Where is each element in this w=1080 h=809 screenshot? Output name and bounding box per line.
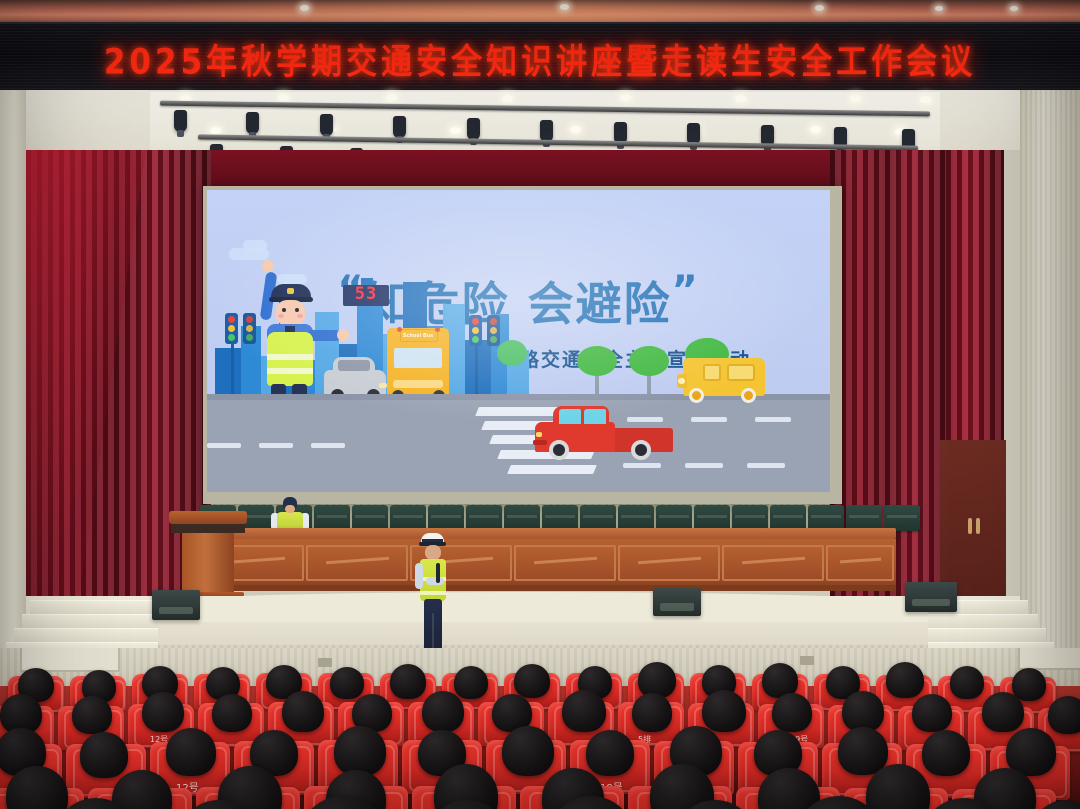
- yellow-light: [490, 327, 497, 334]
- pickup-cab: [535, 422, 615, 452]
- speaker-arm: [426, 577, 444, 585]
- projection-screen: “知危险 会避险” 道路交通安全主题宣传活动: [207, 190, 830, 492]
- traffic-light-right: [469, 315, 482, 346]
- ceiling-downlight: [620, 94, 631, 101]
- truss-rail-upper: [160, 101, 930, 117]
- officer-cheek: [297, 314, 303, 318]
- green-light: [228, 334, 235, 341]
- red-light: [490, 318, 497, 325]
- ceiling-glow: [0, 0, 1080, 24]
- cloud-shape: [243, 240, 267, 251]
- officer-eye: [295, 308, 299, 312]
- ceiling-downlight: [278, 94, 289, 101]
- stage-lamp: [320, 114, 333, 136]
- right-wall: [1020, 90, 1080, 650]
- ceiling-light: [560, 4, 569, 10]
- audience-head: [1012, 668, 1046, 701]
- close-quote: ”: [672, 268, 700, 314]
- ceiling-downlight: [502, 95, 513, 102]
- audience-area: 12号 19号 6号 5排 7排18号 12号: [0, 648, 1080, 809]
- table-panel: [826, 545, 894, 581]
- ceiling-downlight: [450, 127, 461, 134]
- tree-crown: [639, 346, 661, 364]
- stage-monitor-speaker: [152, 590, 200, 620]
- stage-monitor-speaker: [653, 588, 701, 616]
- officer-vest-stripe: [267, 368, 313, 374]
- building-silhouette: [215, 348, 241, 400]
- door-handle: [968, 518, 972, 534]
- pickup-headlight: [536, 432, 542, 437]
- ceiling-downlight: [570, 126, 581, 133]
- truss-rail-lower: [198, 134, 918, 150]
- audience-head: [562, 690, 606, 732]
- screen-headline: “知危险 会避险”: [337, 268, 700, 334]
- school-bus-light: [397, 327, 402, 332]
- officer-cheek: [278, 314, 284, 318]
- lectern-band: [171, 524, 245, 533]
- audience-head: [422, 691, 464, 732]
- yellow-van-window: [703, 364, 721, 381]
- audience-head: [950, 666, 984, 699]
- yellow-light: [472, 327, 479, 334]
- wall-notice-board: [1018, 648, 1080, 670]
- speaker-arm: [415, 563, 423, 589]
- pickup-wheel: [549, 440, 569, 460]
- table-panel: [306, 545, 408, 581]
- audience-head: [886, 662, 924, 698]
- led-banner: 2025年秋学期交通安全知识讲座暨走读生安全工作会议: [0, 22, 1080, 94]
- speaker-vest-stripe: [420, 591, 446, 595]
- lectern-top: [169, 511, 247, 524]
- audience-head: [502, 726, 554, 776]
- audience-head: [282, 691, 324, 732]
- grey-sedan-window: [338, 360, 370, 371]
- yellow-van-wheel: [689, 388, 704, 403]
- audience-head: [212, 694, 252, 732]
- wall-vent: [800, 656, 814, 665]
- countdown-timer: 53: [343, 285, 389, 306]
- officer-hand: [337, 329, 349, 341]
- seated-traffic-officer: [275, 497, 305, 531]
- yellow-light: [228, 325, 235, 332]
- audience-head: [72, 696, 112, 734]
- yellow-van-wheel: [741, 388, 756, 403]
- officer-cap-badge: [287, 288, 294, 294]
- table-panel: [722, 545, 824, 581]
- audience-head: [638, 662, 676, 698]
- school-bus-windshield: [394, 348, 442, 368]
- conference-table-front: [196, 539, 896, 585]
- ceiling-downlight: [386, 94, 397, 101]
- ceiling-light: [935, 6, 943, 11]
- traffic-light-pole: [231, 338, 234, 400]
- audience-head: [1048, 696, 1080, 734]
- officer-face: [276, 300, 305, 326]
- green-light: [490, 336, 497, 343]
- stage-lamp: [467, 118, 480, 140]
- seated-officer-face: [285, 505, 295, 513]
- ceiling-downlight: [735, 95, 746, 102]
- officer-hand: [262, 260, 274, 272]
- ceiling-downlight: [850, 95, 861, 102]
- stage-lamp: [393, 116, 406, 138]
- lane-marking: [691, 417, 727, 422]
- red-light: [228, 316, 235, 323]
- audience-head: [454, 666, 488, 699]
- pickup-wheel: [631, 440, 651, 460]
- grey-sedan-headlight: [379, 383, 387, 388]
- wall-vent: [318, 658, 332, 667]
- audience-head: [142, 692, 184, 732]
- conference-table-top: [196, 528, 896, 539]
- audience-head: [702, 690, 746, 732]
- school-bus-label: School Bus: [403, 333, 434, 339]
- traffic-light-pole-right: [475, 340, 478, 400]
- audience-head: [922, 730, 970, 776]
- ceiling-downlight: [210, 127, 221, 134]
- conference-table-base: [196, 585, 896, 591]
- audience-head: [330, 667, 364, 699]
- ceiling-light: [300, 5, 309, 11]
- tree-crown: [497, 340, 527, 366]
- pickup-window: [559, 409, 581, 424]
- building-silhouette: [465, 340, 491, 400]
- microphone[interactable]: [436, 563, 440, 583]
- yellow-van: [677, 354, 769, 410]
- yellow-van-headlight: [678, 378, 685, 384]
- lane-marking: [311, 443, 345, 448]
- traffic-light-right-2: [487, 315, 500, 346]
- led-banner-text: 2025年秋学期交通安全知识讲座暨走读生安全工作会议: [104, 33, 976, 83]
- officer-eye: [282, 308, 286, 312]
- speaker-leg-split: [432, 613, 434, 653]
- audience-head: [912, 694, 952, 732]
- red-light: [472, 318, 479, 325]
- lectern-body[interactable]: [182, 533, 234, 596]
- ceiling-light: [1010, 6, 1018, 11]
- ceiling-downlight: [920, 96, 931, 103]
- crosswalk-stripe: [507, 465, 597, 474]
- speaker-head: [425, 545, 441, 560]
- audience-head: [390, 664, 426, 699]
- tree-crown: [587, 346, 609, 364]
- audience-head: [632, 693, 672, 732]
- audience-head: [772, 693, 812, 732]
- audience-head: [982, 692, 1024, 732]
- door-handle: [976, 518, 980, 534]
- school-bus-light: [435, 327, 440, 332]
- left-wall: [0, 90, 26, 650]
- red-pickup-truck: [531, 404, 681, 466]
- audience-head: [586, 730, 634, 776]
- pickup-window: [584, 409, 606, 424]
- stage-lamp: [246, 112, 259, 134]
- green-light: [472, 336, 479, 343]
- stage-lamp: [540, 120, 553, 142]
- table-panel: [618, 545, 720, 581]
- ceiling-downlight: [810, 126, 821, 133]
- lane-marking: [259, 443, 293, 448]
- auditorium-photo: 2025年秋学期交通安全知识讲座暨走读生安全工作会议: [0, 0, 1080, 809]
- lane-marking: [685, 463, 723, 468]
- lane-marking: [755, 417, 791, 422]
- ceiling-light: [815, 5, 824, 11]
- stage-monitor-speaker: [905, 582, 957, 612]
- audience-head: [842, 691, 884, 732]
- countdown-value: 53: [355, 284, 377, 304]
- lane-marking: [747, 463, 785, 468]
- pickup-bumper: [533, 440, 547, 445]
- traffic-light-left: [225, 313, 238, 344]
- yellow-van-window: [727, 364, 755, 381]
- audience-head: [334, 726, 386, 776]
- stage-speaker-officer: [413, 533, 451, 653]
- lane-marking: [207, 443, 241, 448]
- stage-lamp: [174, 110, 187, 132]
- officer-vest-stripe: [267, 354, 313, 360]
- table-panel: [514, 545, 616, 581]
- stage-floor-curve: [100, 592, 960, 622]
- school-bus-bumper-lights: [393, 380, 443, 388]
- audience-head: [80, 732, 128, 778]
- audience-head: [514, 664, 550, 698]
- projection-screen-frame: “知危险 会避险” 道路交通安全主题宣传活动: [203, 186, 842, 504]
- audience-head: [166, 728, 216, 776]
